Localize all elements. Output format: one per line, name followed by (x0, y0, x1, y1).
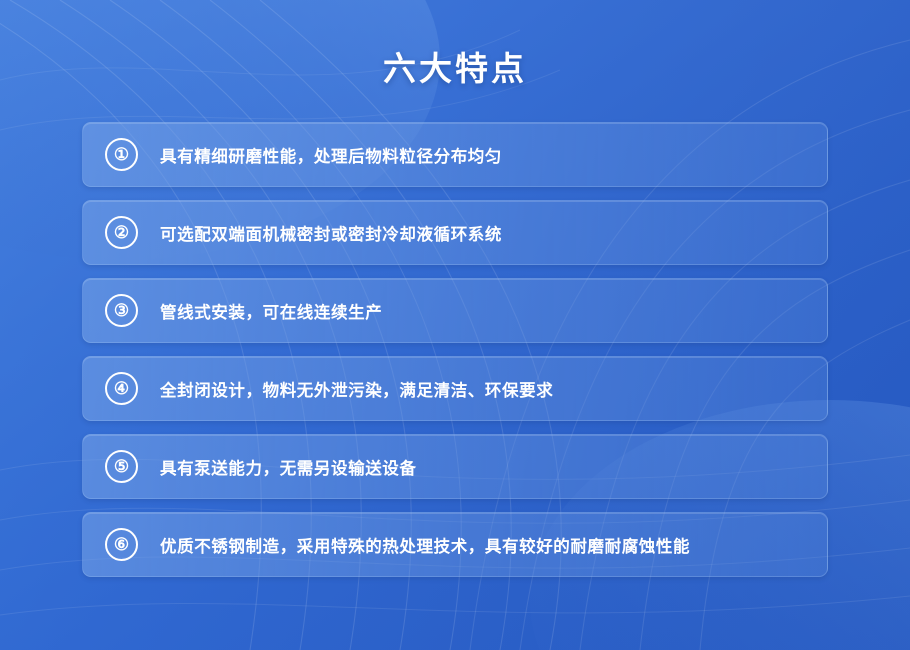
item-number-badge: ① (105, 138, 138, 171)
poster: 六大特点 ① 具有精细研磨性能，处理后物料粒径分布均匀 ② 可选配双端面机械密封… (0, 0, 910, 650)
list-item[interactable]: ① 具有精细研磨性能，处理后物料粒径分布均匀 (82, 122, 828, 187)
item-text: 可选配双端面机械密封或密封冷却液循环系统 (160, 221, 502, 245)
item-number-badge: ② (105, 216, 138, 249)
item-number-badge: ⑥ (105, 528, 138, 561)
item-text: 全封闭设计，物料无外泄污染，满足清洁、环保要求 (160, 377, 553, 401)
item-text: 管线式安装，可在线连续生产 (160, 299, 382, 323)
list-item[interactable]: ⑤ 具有泵送能力，无需另设输送设备 (82, 434, 828, 499)
list-item[interactable]: ④ 全封闭设计，物料无外泄污染，满足清洁、环保要求 (82, 356, 828, 421)
item-text: 具有泵送能力，无需另设输送设备 (160, 455, 417, 479)
list-item[interactable]: ② 可选配双端面机械密封或密封冷却液循环系统 (82, 200, 828, 265)
list-item[interactable]: ⑥ 优质不锈钢制造，采用特殊的热处理技术，具有较好的耐磨耐腐蚀性能 (82, 512, 828, 577)
list-item[interactable]: ③ 管线式安装，可在线连续生产 (82, 278, 828, 343)
item-number-badge: ③ (105, 294, 138, 327)
item-number-badge: ④ (105, 372, 138, 405)
item-text: 具有精细研磨性能，处理后物料粒径分布均匀 (160, 143, 502, 167)
item-number-badge: ⑤ (105, 450, 138, 483)
item-text: 优质不锈钢制造，采用特殊的热处理技术，具有较好的耐磨耐腐蚀性能 (160, 533, 690, 557)
page-title: 六大特点 (0, 0, 910, 90)
feature-list: ① 具有精细研磨性能，处理后物料粒径分布均匀 ② 可选配双端面机械密封或密封冷却… (82, 122, 828, 577)
